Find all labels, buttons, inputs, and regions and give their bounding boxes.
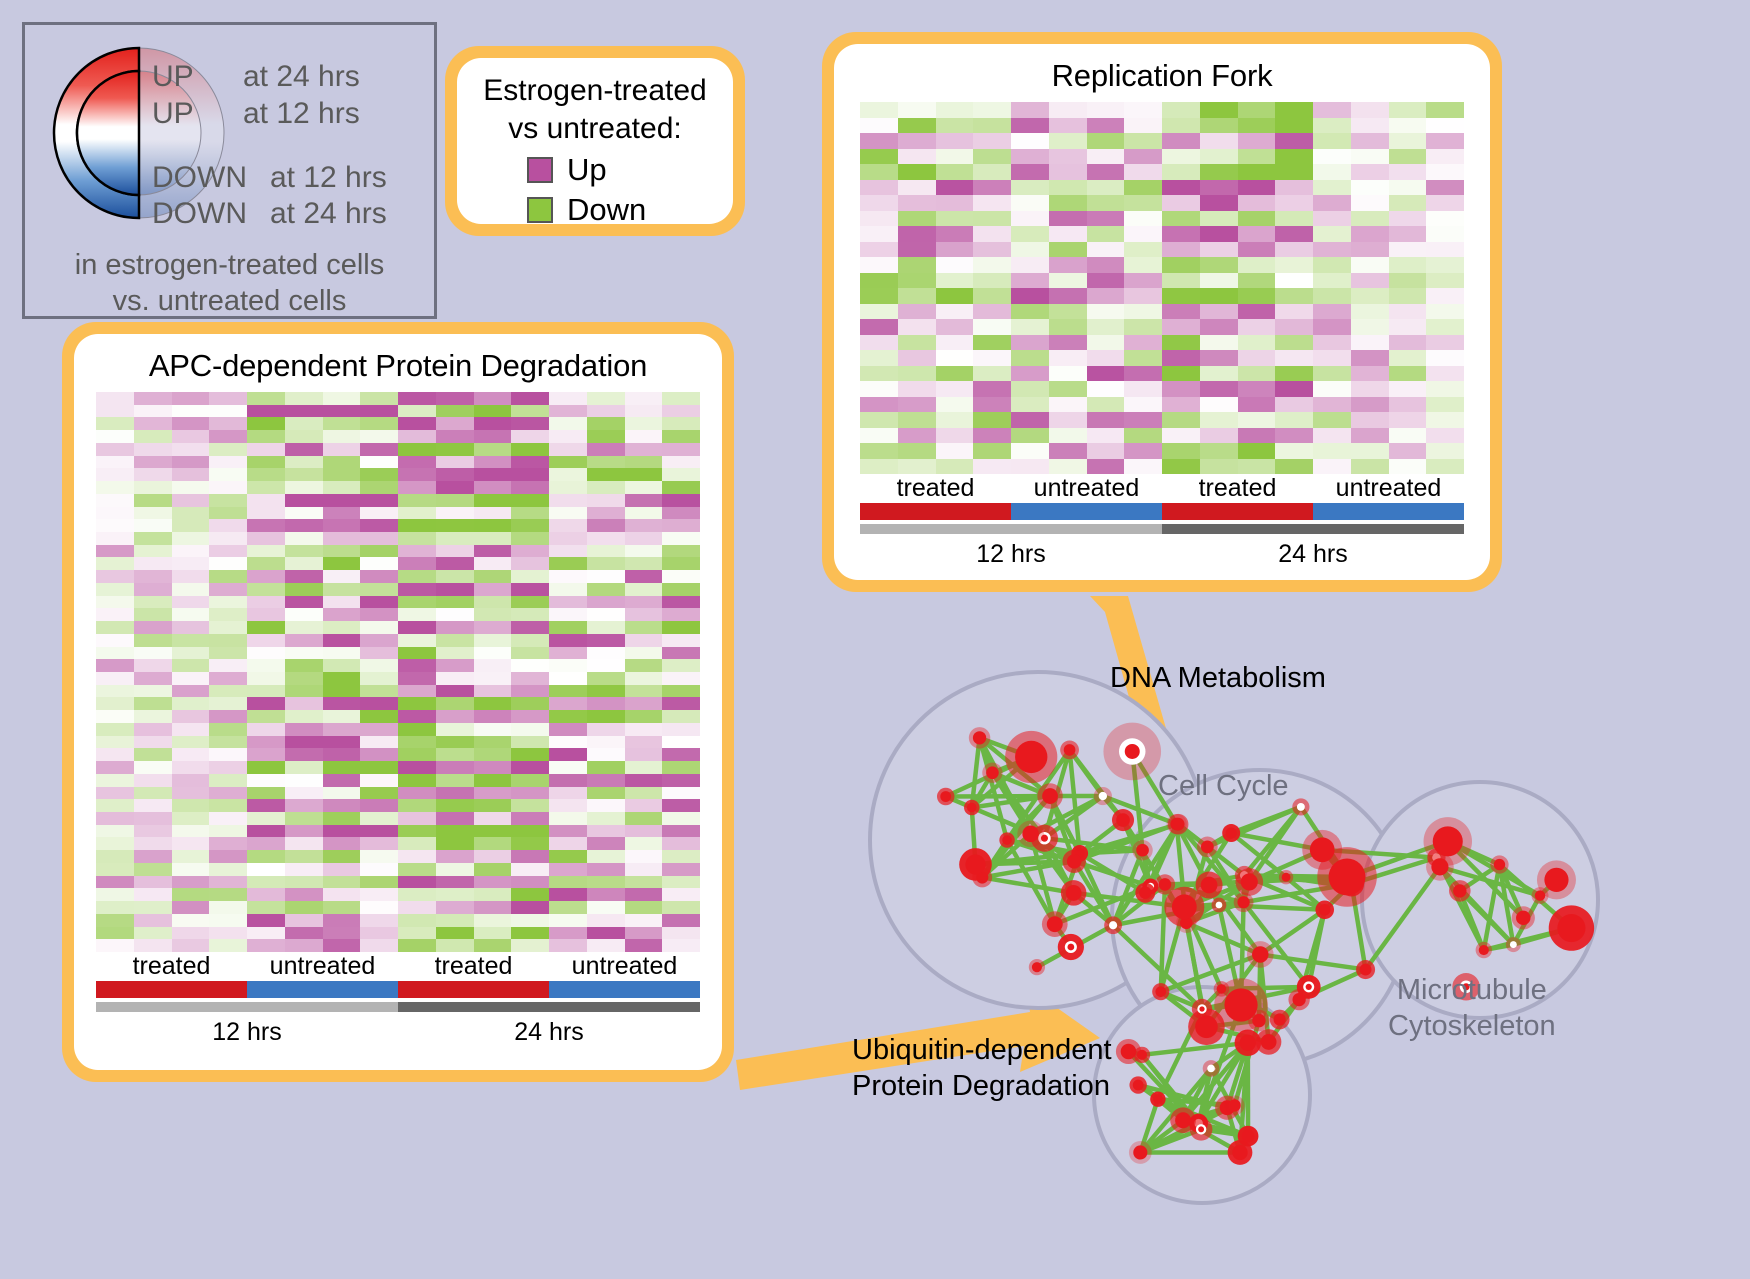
heatmap-cell bbox=[1200, 412, 1238, 428]
heatmap-cell bbox=[436, 939, 474, 952]
heatmap-cell bbox=[1238, 211, 1276, 227]
heatmap-cell bbox=[625, 863, 663, 876]
heatmap-cell bbox=[1011, 118, 1049, 134]
heatmap-cell bbox=[134, 443, 172, 456]
heatmap-cell bbox=[1200, 133, 1238, 149]
heatmap-cell bbox=[1351, 350, 1389, 366]
heatmap-cell bbox=[1049, 273, 1087, 289]
heatmap-cell bbox=[172, 863, 210, 876]
heatmap-cell bbox=[398, 825, 436, 838]
heatmap-cell bbox=[860, 164, 898, 180]
heatmap-cell bbox=[1426, 242, 1464, 258]
network-node[interactable] bbox=[1058, 934, 1084, 960]
heatmap-cell bbox=[973, 459, 1011, 475]
network-node[interactable] bbox=[1168, 814, 1189, 835]
heatmap-cell bbox=[360, 583, 398, 596]
heatmap-cell bbox=[587, 939, 625, 952]
heatmap-cell bbox=[936, 319, 974, 335]
heatmap-cell bbox=[662, 761, 700, 774]
heatmap-cell bbox=[625, 723, 663, 736]
network-node[interactable] bbox=[1132, 840, 1152, 860]
replication-fork-heatmap bbox=[860, 102, 1464, 474]
heatmap-cell bbox=[587, 736, 625, 749]
heatmap-cell bbox=[1087, 257, 1125, 273]
network-node[interactable] bbox=[1134, 1047, 1150, 1063]
network-node[interactable] bbox=[1203, 1060, 1220, 1077]
heatmap-cell bbox=[1426, 257, 1464, 273]
heatmap-cell bbox=[587, 761, 625, 774]
heatmap-cell bbox=[172, 697, 210, 710]
group-label-untreated-3: untreated bbox=[1313, 474, 1464, 503]
heatmap-cell bbox=[549, 468, 587, 481]
heatmap-cell bbox=[1426, 428, 1464, 444]
heatmap-cell bbox=[209, 417, 247, 430]
heatmap-cell bbox=[936, 242, 974, 258]
heatmap-cell bbox=[549, 519, 587, 532]
network-node[interactable] bbox=[1247, 941, 1274, 968]
heatmap-cell bbox=[1200, 102, 1238, 118]
heatmap-cell bbox=[134, 532, 172, 545]
heatmap-cell bbox=[96, 557, 134, 570]
network-node[interactable] bbox=[1005, 731, 1057, 783]
heatmap-cell bbox=[936, 428, 974, 444]
heatmap-cell bbox=[172, 392, 210, 405]
heatmap-cell bbox=[398, 888, 436, 901]
heatmap-cell bbox=[973, 226, 1011, 242]
heatmap-cell bbox=[587, 685, 625, 698]
heatmap-cell bbox=[285, 519, 323, 532]
heatmap-cell bbox=[860, 381, 898, 397]
heatmap-cell bbox=[172, 710, 210, 723]
heatmap-cell bbox=[247, 748, 285, 761]
heatmap-cell bbox=[549, 634, 587, 647]
heatmap-cell bbox=[134, 392, 172, 405]
heatmap-cell bbox=[662, 519, 700, 532]
heatmap-cell bbox=[511, 723, 549, 736]
group-label-treated-0: treated bbox=[860, 474, 1011, 503]
heatmap-cell bbox=[1351, 118, 1389, 134]
heatmap-cell bbox=[587, 494, 625, 507]
heatmap-cell bbox=[360, 723, 398, 736]
heatmap-cell bbox=[1049, 335, 1087, 351]
heatmap-cell bbox=[1087, 412, 1125, 428]
heatmap-cell bbox=[436, 736, 474, 749]
heatmap-cell bbox=[1049, 195, 1087, 211]
network-node[interactable] bbox=[969, 727, 990, 748]
heatmap-cell bbox=[1351, 366, 1389, 382]
heatmap-cell bbox=[398, 430, 436, 443]
heatmap-cell bbox=[285, 583, 323, 596]
heatmap-cell bbox=[172, 494, 210, 507]
heatmap-cell bbox=[1124, 304, 1162, 320]
heatmap-cell bbox=[398, 787, 436, 800]
heatmap-cell bbox=[898, 443, 936, 459]
network-node[interactable] bbox=[1512, 906, 1535, 929]
heatmap-cell bbox=[285, 545, 323, 558]
heatmap-cell bbox=[285, 596, 323, 609]
heatmap-cell bbox=[973, 180, 1011, 196]
heatmap-cell bbox=[662, 685, 700, 698]
network-node[interactable] bbox=[1248, 1010, 1270, 1032]
heatmap-cell bbox=[323, 634, 361, 647]
network-node[interactable] bbox=[1135, 883, 1155, 903]
network-node[interactable] bbox=[937, 788, 955, 806]
heatmap-cell bbox=[1351, 102, 1389, 118]
network-node[interactable] bbox=[1061, 880, 1087, 906]
heatmap-cell bbox=[398, 850, 436, 863]
heatmap-cell bbox=[936, 133, 974, 149]
heatmap-cell bbox=[134, 927, 172, 940]
network-node[interactable] bbox=[1129, 1141, 1152, 1164]
heatmap-cell bbox=[625, 392, 663, 405]
heatmap-cell bbox=[398, 863, 436, 876]
heatmap-cell bbox=[1389, 412, 1427, 428]
legend-swatch-down bbox=[527, 197, 553, 223]
heatmap-cell bbox=[511, 761, 549, 774]
network-node[interactable] bbox=[1235, 1030, 1262, 1057]
heatmap-cell bbox=[96, 608, 134, 621]
heatmap-cell bbox=[511, 748, 549, 761]
heatmap-cell bbox=[96, 596, 134, 609]
heatmap-cell bbox=[662, 430, 700, 443]
network-node[interactable] bbox=[982, 763, 1002, 783]
network-node[interactable] bbox=[1212, 898, 1227, 913]
heatmap-cell bbox=[860, 412, 898, 428]
key-label-up-12: UP bbox=[152, 97, 194, 131]
heatmap-cell bbox=[172, 914, 210, 927]
network-node[interactable] bbox=[1060, 741, 1079, 760]
heatmap-cell bbox=[436, 417, 474, 430]
heatmap-cell bbox=[1162, 381, 1200, 397]
heatmap-cell bbox=[587, 799, 625, 812]
heatmap-cell bbox=[1313, 350, 1351, 366]
heatmap-cell bbox=[247, 914, 285, 927]
heatmap-cell bbox=[662, 468, 700, 481]
heatmap-cell bbox=[360, 914, 398, 927]
network-node[interactable] bbox=[1104, 916, 1122, 934]
network-node[interactable] bbox=[1449, 880, 1471, 902]
network-node[interactable] bbox=[1302, 830, 1342, 870]
heatmap-cell bbox=[172, 570, 210, 583]
heatmap-cell bbox=[474, 888, 512, 901]
heatmap-cell bbox=[436, 456, 474, 469]
heatmap-cell bbox=[209, 647, 247, 660]
heatmap-cell bbox=[398, 659, 436, 672]
heatmap-cell bbox=[1124, 257, 1162, 273]
heatmap-cell bbox=[662, 507, 700, 520]
heatmap-cell bbox=[1275, 149, 1313, 165]
heatmap-cell bbox=[1200, 366, 1238, 382]
heatmap-cell bbox=[1011, 319, 1049, 335]
network-node[interactable] bbox=[1315, 900, 1334, 919]
network-node[interactable] bbox=[1063, 850, 1086, 873]
network-node[interactable] bbox=[1424, 817, 1472, 865]
heatmap-cell bbox=[1275, 288, 1313, 304]
heatmap-cell bbox=[936, 304, 974, 320]
heatmap-cell bbox=[436, 825, 474, 838]
heatmap-cell bbox=[1162, 412, 1200, 428]
heatmap-cell bbox=[209, 914, 247, 927]
heatmap-cell bbox=[625, 825, 663, 838]
heatmap-cell bbox=[436, 927, 474, 940]
heatmap-cell bbox=[209, 710, 247, 723]
heatmap-cell bbox=[587, 621, 625, 634]
key-label-up-24: UP bbox=[152, 60, 194, 94]
heatmap-cell bbox=[936, 102, 974, 118]
heatmap-cell bbox=[247, 761, 285, 774]
heatmap-cell bbox=[898, 133, 936, 149]
heatmap-cell bbox=[1238, 180, 1276, 196]
heatmap-cell bbox=[172, 596, 210, 609]
heatmap-cell bbox=[973, 118, 1011, 134]
heatmap-cell bbox=[625, 685, 663, 698]
heatmap-cell bbox=[285, 557, 323, 570]
heatmap-cell bbox=[323, 507, 361, 520]
heatmap-cell bbox=[1313, 397, 1351, 413]
heatmap-cell bbox=[96, 837, 134, 850]
heatmap-cell bbox=[1049, 226, 1087, 242]
heatmap-cell bbox=[1238, 195, 1276, 211]
heatmap-cell bbox=[511, 507, 549, 520]
heatmap-cell bbox=[474, 481, 512, 494]
heatmap-cell bbox=[134, 659, 172, 672]
heatmap-cell bbox=[1087, 226, 1125, 242]
heatmap-cell bbox=[1351, 335, 1389, 351]
heatmap-cell bbox=[1162, 428, 1200, 444]
heatmap-cell bbox=[247, 736, 285, 749]
heatmap-cell bbox=[1124, 335, 1162, 351]
heatmap-cell bbox=[587, 787, 625, 800]
heatmap-cell bbox=[973, 428, 1011, 444]
group-label-untreated-1: untreated bbox=[247, 952, 398, 981]
time-label-12-hrs: 12 hrs bbox=[96, 1016, 398, 1047]
heatmap-cell bbox=[1238, 257, 1276, 273]
network-node[interactable] bbox=[1094, 787, 1112, 805]
heatmap-cell bbox=[1426, 149, 1464, 165]
heatmap-cell bbox=[1351, 226, 1389, 242]
heatmap-cell bbox=[662, 748, 700, 761]
network-node[interactable] bbox=[1112, 809, 1134, 831]
heatmap-cell bbox=[625, 812, 663, 825]
network-node[interactable] bbox=[1042, 911, 1068, 937]
network-node[interactable] bbox=[1288, 989, 1309, 1010]
heatmap-cell bbox=[973, 366, 1011, 382]
heatmap-cell bbox=[1313, 304, 1351, 320]
heatmap-cell bbox=[209, 825, 247, 838]
heatmap-cell bbox=[134, 939, 172, 952]
heatmap-cell bbox=[1426, 459, 1464, 475]
heatmap-cell bbox=[1313, 335, 1351, 351]
heatmap-cell bbox=[1238, 273, 1276, 289]
heatmap-cell bbox=[973, 288, 1011, 304]
heatmap-cell bbox=[860, 443, 898, 459]
heatmap-cell bbox=[511, 659, 549, 672]
heatmap-cell bbox=[360, 812, 398, 825]
heatmap-cell bbox=[587, 647, 625, 660]
heatmap-cell bbox=[285, 723, 323, 736]
heatmap-cell bbox=[134, 608, 172, 621]
heatmap-cell bbox=[511, 494, 549, 507]
heatmap-cell bbox=[474, 659, 512, 672]
heatmap-cell bbox=[587, 863, 625, 876]
network-node[interactable] bbox=[1225, 1095, 1245, 1115]
heatmap-cell bbox=[1124, 319, 1162, 335]
heatmap-cell bbox=[1200, 319, 1238, 335]
heatmap-cell bbox=[360, 634, 398, 647]
heatmap-cell bbox=[860, 102, 898, 118]
heatmap-cell bbox=[1389, 366, 1427, 382]
heatmap-cell bbox=[973, 242, 1011, 258]
heatmap-cell bbox=[398, 914, 436, 927]
network-node[interactable] bbox=[1170, 1107, 1196, 1133]
heatmap-cell bbox=[323, 545, 361, 558]
heatmap-cell bbox=[134, 468, 172, 481]
heatmap-cell bbox=[973, 381, 1011, 397]
heatmap-cell bbox=[209, 927, 247, 940]
network-node[interactable] bbox=[1549, 905, 1594, 950]
key-label-down-24: DOWN bbox=[152, 197, 247, 231]
heatmap-cell bbox=[474, 608, 512, 621]
heatmap-cell bbox=[587, 430, 625, 443]
network-node[interactable] bbox=[1506, 937, 1521, 952]
network-node[interactable] bbox=[1537, 860, 1576, 899]
heatmap-cell bbox=[1049, 257, 1087, 273]
heatmap-cell bbox=[898, 412, 936, 428]
heatmap-cell bbox=[474, 774, 512, 787]
network-node[interactable] bbox=[1490, 855, 1508, 873]
heatmap-cell bbox=[247, 468, 285, 481]
heatmap-cell bbox=[285, 812, 323, 825]
heatmap-cell bbox=[323, 876, 361, 889]
network-node[interactable] bbox=[1222, 824, 1240, 842]
heatmap-cell bbox=[511, 647, 549, 660]
network-node[interactable] bbox=[1029, 959, 1045, 975]
heatmap-cell bbox=[134, 837, 172, 850]
heatmap-cell bbox=[1124, 397, 1162, 413]
network-node[interactable] bbox=[1150, 1091, 1165, 1106]
heatmap-cell bbox=[662, 405, 700, 418]
heatmap-cell bbox=[1087, 428, 1125, 444]
key-time-up-24: at 24 hrs bbox=[243, 60, 360, 94]
heatmap-cell bbox=[625, 939, 663, 952]
heatmap-cell bbox=[474, 456, 512, 469]
network-node[interactable] bbox=[1214, 981, 1230, 997]
heatmap-cell bbox=[247, 621, 285, 634]
network-node[interactable] bbox=[964, 800, 979, 815]
network-node[interactable] bbox=[1129, 1076, 1146, 1093]
network-node[interactable] bbox=[1103, 723, 1161, 781]
network-node[interactable] bbox=[1476, 942, 1492, 958]
heatmap-cell bbox=[360, 927, 398, 940]
heatmap-cell bbox=[662, 608, 700, 621]
heatmap-cell bbox=[474, 761, 512, 774]
heatmap-cell bbox=[1313, 288, 1351, 304]
heatmap-cell bbox=[96, 545, 134, 558]
network-node[interactable] bbox=[1037, 783, 1062, 808]
heatmap-cell bbox=[360, 710, 398, 723]
network-node[interactable] bbox=[999, 832, 1014, 847]
heatmap-cell bbox=[587, 748, 625, 761]
heatmap-cell bbox=[285, 481, 323, 494]
heatmap-cell bbox=[209, 545, 247, 558]
heatmap-cell bbox=[134, 685, 172, 698]
heatmap-cell bbox=[96, 405, 134, 418]
network-node[interactable] bbox=[959, 848, 992, 881]
heatmap-cell bbox=[1124, 242, 1162, 258]
heatmap-cell bbox=[360, 557, 398, 570]
heatmap-cell bbox=[860, 319, 898, 335]
heatmap-cell bbox=[587, 557, 625, 570]
network-svg bbox=[790, 600, 1750, 1279]
network-node[interactable] bbox=[1197, 837, 1218, 858]
network-node[interactable] bbox=[1356, 960, 1375, 979]
heatmap-cell bbox=[936, 226, 974, 242]
heatmap-cell bbox=[96, 647, 134, 660]
heatmap-cell bbox=[625, 799, 663, 812]
heatmap-cell bbox=[209, 494, 247, 507]
heatmap-cell bbox=[436, 876, 474, 889]
heatmap-cell bbox=[1389, 273, 1427, 289]
heatmap-cell bbox=[973, 443, 1011, 459]
heatmap-cell bbox=[436, 608, 474, 621]
network-node[interactable] bbox=[1292, 798, 1309, 815]
heatmap-cell bbox=[662, 672, 700, 685]
network-node[interactable] bbox=[1270, 1010, 1290, 1030]
heatmap-cell bbox=[1389, 381, 1427, 397]
heatmap-cell bbox=[1200, 428, 1238, 444]
heatmap-cell bbox=[625, 557, 663, 570]
heatmap-cell bbox=[587, 812, 625, 825]
heatmap-cell bbox=[1389, 257, 1427, 273]
heatmap-cell bbox=[1275, 428, 1313, 444]
network-node[interactable] bbox=[1017, 820, 1044, 847]
heatmap-cell bbox=[172, 876, 210, 889]
network-node[interactable] bbox=[1238, 1126, 1259, 1147]
heatmap-cell bbox=[134, 519, 172, 532]
heatmap-cell bbox=[549, 456, 587, 469]
network-node[interactable] bbox=[1235, 868, 1263, 896]
heatmap-cell bbox=[587, 583, 625, 596]
heatmap-cell bbox=[662, 545, 700, 558]
heatmap-cell bbox=[436, 723, 474, 736]
network-node[interactable] bbox=[1279, 870, 1293, 884]
heatmap-cell bbox=[209, 812, 247, 825]
heatmap-cell bbox=[474, 748, 512, 761]
heatmap-cell bbox=[1087, 273, 1125, 289]
heatmap-cell bbox=[860, 195, 898, 211]
heatmap-cell bbox=[247, 583, 285, 596]
heatmap-cell bbox=[1011, 397, 1049, 413]
network-node[interactable] bbox=[1192, 999, 1212, 1019]
network-node[interactable] bbox=[1152, 983, 1169, 1000]
heatmap-cell bbox=[96, 888, 134, 901]
heatmap-cell bbox=[511, 876, 549, 889]
heatmap-cell bbox=[474, 825, 512, 838]
heatmap-cell bbox=[1162, 102, 1200, 118]
heatmap-cell bbox=[860, 242, 898, 258]
heatmap-cell bbox=[1011, 242, 1049, 258]
heatmap-cell bbox=[436, 647, 474, 660]
heatmap-cell bbox=[398, 672, 436, 685]
heatmap-cell bbox=[323, 723, 361, 736]
heatmap-cell bbox=[134, 914, 172, 927]
network-node[interactable] bbox=[1164, 887, 1204, 927]
heatmap-cell bbox=[474, 697, 512, 710]
time-bar-24-hrs bbox=[398, 1002, 700, 1012]
heatmap-cell bbox=[285, 456, 323, 469]
heatmap-cell bbox=[398, 761, 436, 774]
heatmap-cell bbox=[247, 545, 285, 558]
